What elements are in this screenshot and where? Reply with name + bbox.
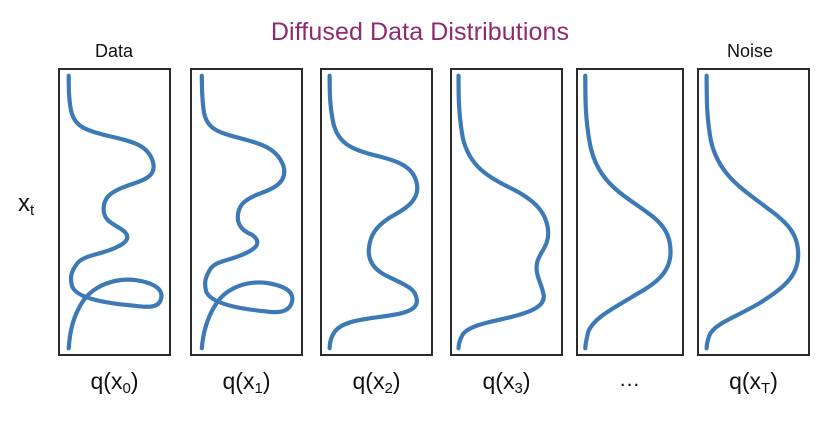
distribution-curve-2 <box>322 70 431 354</box>
diffusion-distributions-figure: Diffused Data Distributions xt Data Nois… <box>0 0 840 440</box>
panel-label-1: q(x1) <box>190 368 303 397</box>
distribution-curve-3 <box>452 70 561 354</box>
panel-label-5-close: ) <box>770 368 778 394</box>
distribution-curve-4 <box>578 70 682 354</box>
distribution-curve-1 <box>192 70 301 354</box>
distribution-panel-3 <box>450 68 563 356</box>
distribution-curve-5 <box>699 70 808 354</box>
distribution-panel-2 <box>320 68 433 356</box>
end-label-data: Data <box>58 41 170 62</box>
panel-label-1-close: ) <box>263 368 271 394</box>
panel-label-3-close: ) <box>523 368 531 394</box>
panel-label-3-base: q(x <box>483 368 515 394</box>
y-axis-label: xt <box>18 190 34 219</box>
panel-label-0: q(x0) <box>58 368 171 397</box>
panel-label-0-close: ) <box>131 368 139 394</box>
panel-label-2-base: q(x <box>353 368 385 394</box>
panel-label-1-base: q(x <box>223 368 255 394</box>
panel-label-0-base: q(x <box>91 368 123 394</box>
end-label-noise: Noise <box>694 41 806 62</box>
panel-label-3-subscript: 3 <box>514 380 522 397</box>
panel-label-2-subscript: 2 <box>384 380 392 397</box>
panel-label-2: q(x2) <box>320 368 433 397</box>
distribution-curve-0 <box>60 70 169 354</box>
panel-label-5: q(xT) <box>697 368 810 397</box>
distribution-panel-5 <box>697 68 810 356</box>
panel-label-4: ... <box>576 368 684 392</box>
y-axis-label-base: x <box>18 190 30 217</box>
panel-label-0-subscript: 0 <box>122 380 130 397</box>
distribution-panel-4 <box>576 68 684 356</box>
y-axis-label-subscript: t <box>30 202 34 219</box>
panel-label-1-subscript: 1 <box>254 380 262 397</box>
distribution-panel-1 <box>190 68 303 356</box>
panel-label-5-base: q(x <box>729 368 761 394</box>
panel-label-4-ellipsis: ... <box>620 368 641 391</box>
panel-label-5-subscript: T <box>761 380 770 397</box>
panel-label-3: q(x3) <box>450 368 563 397</box>
panel-label-2-close: ) <box>393 368 401 394</box>
distribution-panel-0 <box>58 68 171 356</box>
